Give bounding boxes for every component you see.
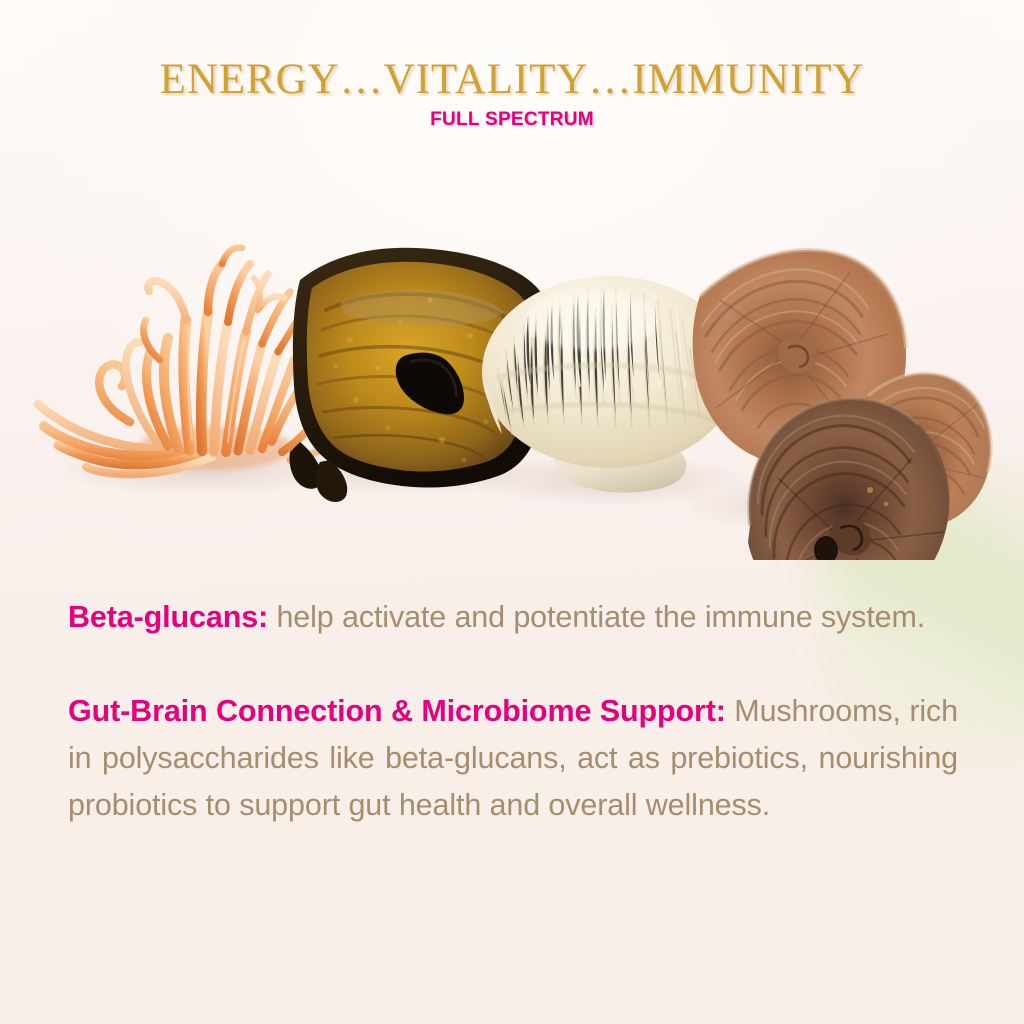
mushroom-illustration	[0, 160, 1024, 560]
paragraph-text-beta-glucans: help activate and potentiate the immune …	[276, 600, 925, 634]
poster-canvas: ENERGY…VITALITY…IMMUNITY FULL SPECTRUM	[0, 0, 1024, 1024]
body-copy: Beta-glucans: help activate and potentia…	[68, 594, 958, 829]
page-title: ENERGY…VITALITY…IMMUNITY	[0, 58, 1024, 101]
paragraph-gut-brain: Gut-Brain Connection & Microbiome Suppor…	[68, 688, 958, 829]
paragraph-beta-glucans: Beta-glucans: help activate and potentia…	[68, 594, 958, 641]
paragraph-lead-gut-brain: Gut-Brain Connection & Microbiome Suppor…	[68, 694, 726, 728]
page-subtitle: FULL SPECTRUM	[0, 110, 1024, 129]
mushroom-photo-band	[0, 160, 1024, 560]
paragraph-lead-beta-glucans: Beta-glucans:	[68, 600, 268, 634]
header: ENERGY…VITALITY…IMMUNITY FULL SPECTRUM	[0, 0, 1024, 129]
